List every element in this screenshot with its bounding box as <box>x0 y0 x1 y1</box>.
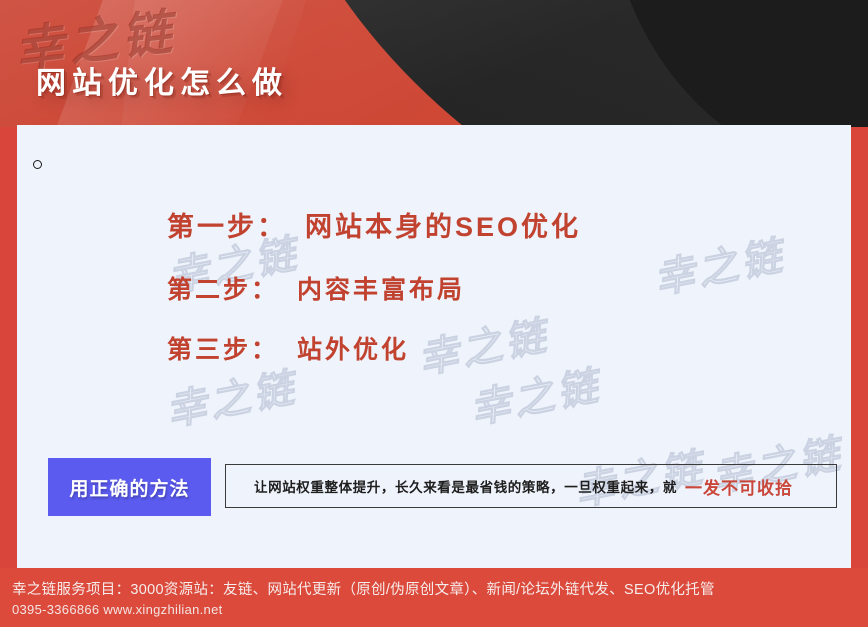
steps-list: 第一步： 网站本身的SEO优化 第二步： 内容丰富布局 第三步： 站外优化 <box>167 205 827 366</box>
slide-canvas: 幸之链 网站优化怎么做 幸之链 幸之链 幸之链 幸之链 幸之链 幸之链 幸之链 … <box>0 0 868 627</box>
content-panel: 幸之链 幸之链 幸之链 幸之链 幸之链 幸之链 幸之链 第一步： 网站本身的SE… <box>17 125 851 568</box>
slide-header: 幸之链 网站优化怎么做 <box>0 0 868 127</box>
callout-text: 让网站权重整体提升，长久来看是最省钱的策略，一旦权重起来，就 <box>226 476 677 496</box>
callout-accent-text: 一发不可收拾 <box>685 474 793 499</box>
callout-body-box: 让网站权重整体提升，长久来看是最省钱的策略，一旦权重起来，就 一发不可收拾 <box>225 464 837 508</box>
step-item-3: 第三步： 站外优化 <box>167 330 827 366</box>
step-3-label: 第三步： <box>167 330 279 366</box>
step-3-text: 站外优化 <box>297 330 409 366</box>
slide-footer: 幸之链服务项目：3000资源站：友链、网站代更新（原创/伪原创文章）、新闻/论坛… <box>0 568 868 627</box>
content-watermark: 幸之链 <box>161 355 302 437</box>
step-1-text: 网站本身的SEO优化 <box>305 205 581 244</box>
step-2-text: 内容丰富布局 <box>297 270 465 306</box>
callout-block: 用正确的方法 让网站权重整体提升，长久来看是最省钱的策略，一旦权重起来，就 一发… <box>48 458 838 516</box>
step-1-label: 第一步： <box>167 205 287 244</box>
step-2-label: 第二步： <box>167 270 279 306</box>
callout-tag-label: 用正确的方法 <box>48 458 211 516</box>
step-item-2: 第二步： 内容丰富布局 <box>167 270 827 306</box>
step-item-1: 第一步： 网站本身的SEO优化 <box>167 205 827 244</box>
footer-services-text: 幸之链服务项目：3000资源站：友链、网站代更新（原创/伪原创文章）、新闻/论坛… <box>12 578 715 599</box>
page-title: 网站优化怎么做 <box>36 58 288 102</box>
footer-contact-text: 0395-3366866 www.xingzhilian.net <box>12 602 223 617</box>
circle-bullet-icon <box>33 160 42 169</box>
